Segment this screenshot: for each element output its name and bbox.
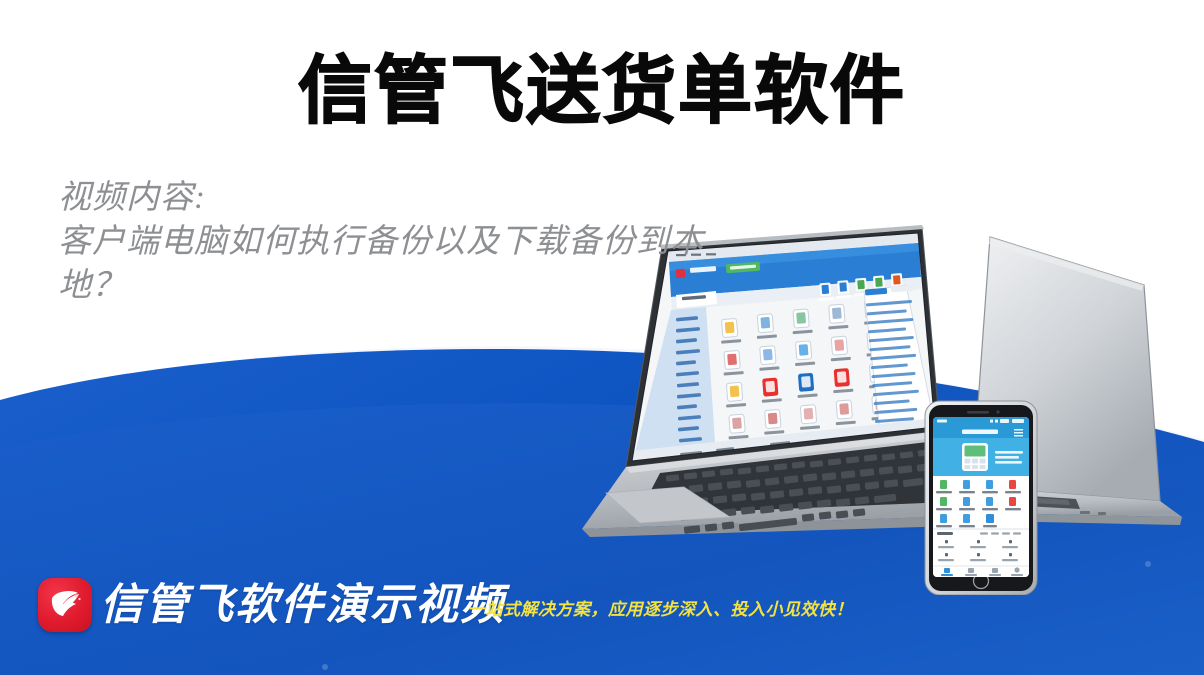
video-content-block: 视频内容: 客户端电脑如何执行备份以及下载备份到本地？ xyxy=(58,176,758,308)
brand-title: 信管飞软件演示视频 xyxy=(100,578,505,632)
phone-screen-content xyxy=(933,417,1029,577)
video-content-label: 视频内容: xyxy=(58,176,758,220)
slide-canvas: 信管飞送货单软件 视频内容: 客户端电脑如何执行备份以及下载备份到本地？ 信管飞… xyxy=(0,0,1204,675)
brand-tagline: 一站式解决方案，应用逐步深入、投入小见效快！ xyxy=(468,598,853,622)
flying-bird-logo-icon xyxy=(38,578,92,632)
video-content-body: 客户端电脑如何执行备份以及下载备份到本地？ xyxy=(58,220,758,308)
page-title: 信管飞送货单软件 xyxy=(0,48,1204,134)
